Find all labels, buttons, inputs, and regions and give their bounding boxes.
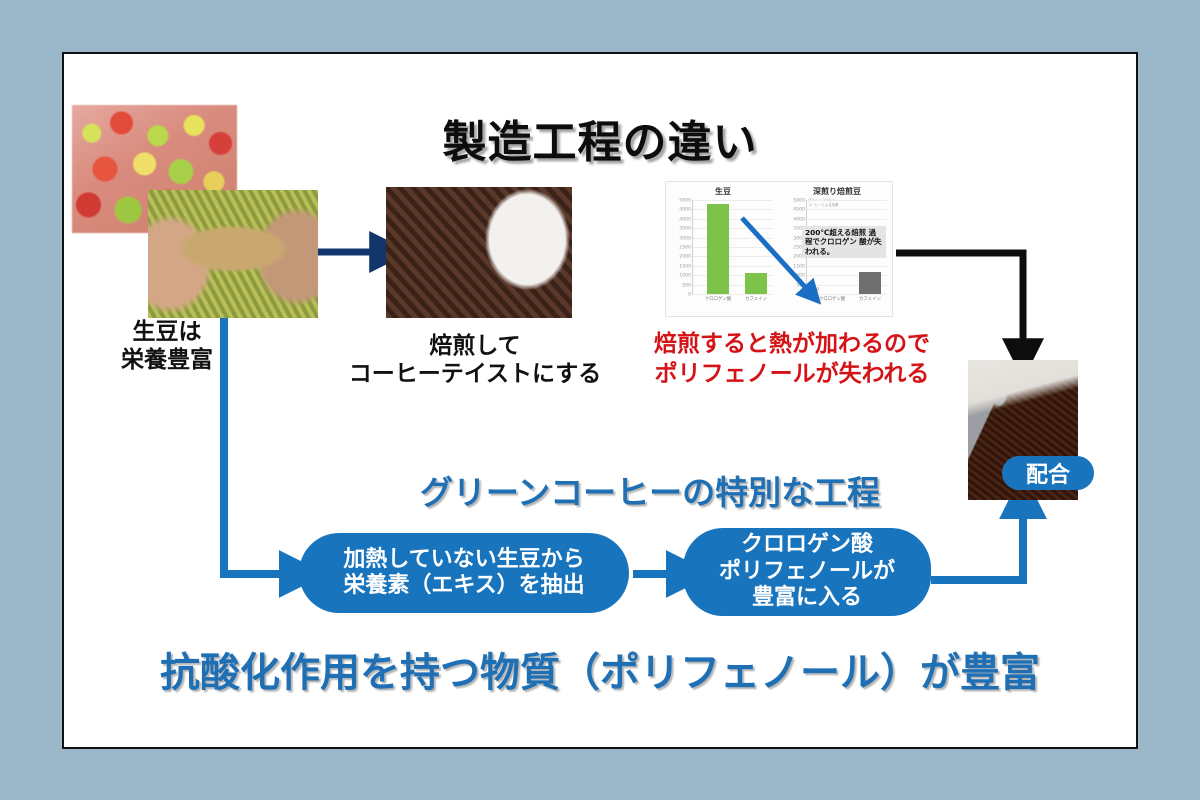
page-title: 製造工程の違い	[300, 106, 900, 170]
arrow-rich-to-blend	[931, 516, 1023, 580]
arrow-chart-to-blend	[896, 253, 1023, 341]
caption-polyphenol-loss: 焙煎すると熱が加わるので ポリフェノールが失われる	[627, 330, 957, 390]
blend-badge: 配合	[1002, 456, 1094, 490]
chart-annotation: 200℃超える焙煎 過程でクロロゲン 酸が失われる。	[802, 226, 886, 258]
roasted-beans-with-cup-photo	[386, 187, 572, 318]
footer-statement: 抗酸化作用を持つ物質（ポリフェノール）が豊富	[80, 640, 1120, 698]
caption-raw-beans: 生豆は 栄養豊富	[72, 318, 262, 374]
comparison-bar-chart: 生豆 0500100015002000250030003500400045005…	[665, 181, 893, 317]
slide-canvas: 製造工程の違い 生豆 05001000150020002500300035004…	[0, 0, 1200, 800]
process-box-rich-polyphenol[interactable]: クロロゲン酸 ポリフェノールが 豊富に入る	[683, 528, 931, 616]
process-box-extract[interactable]: 加熱していない生豆から 栄養素（エキス）を抽出	[299, 533, 629, 613]
caption-roasting: 焙煎して コーヒーテイストにする	[330, 332, 620, 388]
hands-holding-green-beans-photo	[148, 190, 318, 318]
heading-green-coffee-process: グリーンコーヒーの特別な工程	[330, 466, 970, 514]
